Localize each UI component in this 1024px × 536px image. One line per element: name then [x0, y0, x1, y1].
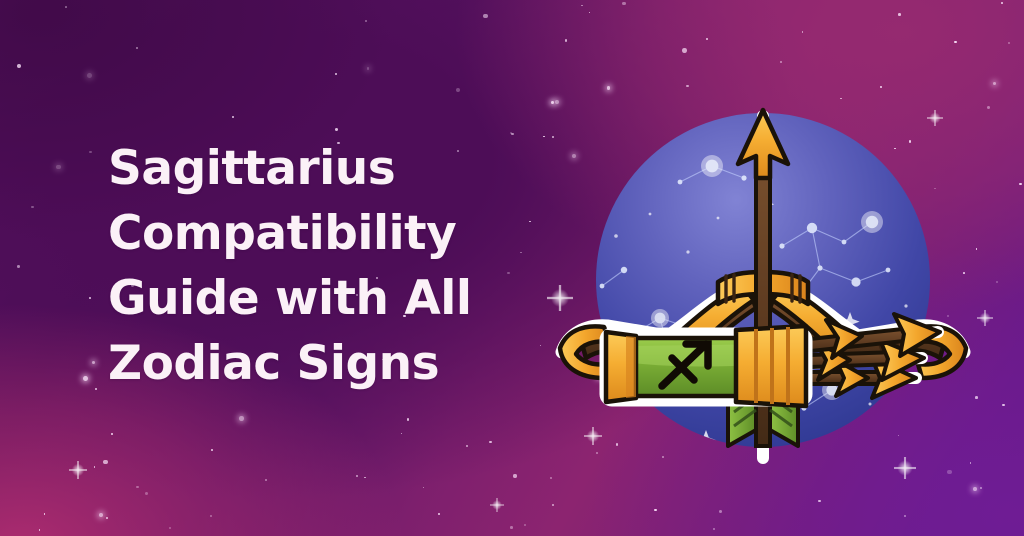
- background-star: [407, 418, 409, 420]
- sparkle-star: [490, 498, 504, 512]
- background-star: [1001, 2, 1003, 4]
- background-star: [95, 388, 97, 390]
- background-star: [169, 527, 171, 529]
- background-star: [993, 82, 996, 85]
- background-star: [145, 492, 148, 495]
- background-star: [706, 38, 708, 40]
- background-star: [552, 504, 554, 506]
- background-star: [364, 477, 365, 478]
- background-star: [31, 206, 34, 209]
- background-star: [92, 361, 95, 364]
- title-line-2: Compatibility: [108, 201, 538, 266]
- background-star: [56, 165, 60, 169]
- title-line-1: Sagittarius: [108, 136, 538, 201]
- background-star: [898, 13, 901, 16]
- background-star: [524, 524, 526, 526]
- zodiac-banner: Sagittarius Compatibility Guide with All…: [0, 0, 1024, 536]
- background-star: [83, 376, 88, 381]
- background-star: [622, 2, 625, 5]
- background-star: [456, 88, 460, 92]
- background-star: [581, 5, 583, 7]
- background-star: [44, 513, 46, 515]
- background-star: [65, 6, 67, 8]
- background-star: [239, 416, 244, 421]
- sparkle-star: [69, 461, 87, 479]
- background-star: [106, 517, 108, 519]
- background-star: [111, 433, 113, 435]
- background-star: [89, 297, 91, 299]
- background-star: [1019, 183, 1021, 185]
- background-star: [589, 12, 591, 14]
- page-title: Sagittarius Compatibility Guide with All…: [108, 136, 538, 396]
- quiver: [606, 326, 806, 406]
- background-star: [1002, 404, 1005, 407]
- background-star: [713, 528, 715, 530]
- background-star: [466, 445, 468, 447]
- background-star: [987, 106, 990, 109]
- background-star: [87, 73, 92, 78]
- background-star: [265, 479, 268, 482]
- background-star: [211, 449, 213, 451]
- background-star: [17, 265, 20, 268]
- background-star: [818, 500, 820, 502]
- background-star: [89, 151, 91, 153]
- background-star: [335, 73, 337, 75]
- background-star: [136, 486, 139, 489]
- background-star: [780, 61, 782, 63]
- background-star: [719, 510, 723, 514]
- background-star: [232, 116, 234, 118]
- title-line-3: Guide with All: [108, 266, 538, 331]
- background-star: [973, 487, 977, 491]
- background-star: [565, 39, 567, 41]
- background-star: [438, 513, 440, 515]
- background-star: [423, 487, 425, 489]
- background-star: [39, 529, 41, 531]
- background-star: [367, 67, 370, 70]
- background-star: [210, 515, 212, 517]
- background-star: [996, 281, 998, 283]
- background-star: [904, 515, 906, 517]
- background-star: [489, 441, 491, 443]
- title-line-4: Zodiac Signs: [108, 331, 538, 396]
- background-star: [401, 433, 403, 435]
- background-star: [682, 48, 687, 53]
- background-star: [980, 487, 982, 489]
- background-star: [1008, 42, 1010, 44]
- background-star: [802, 31, 804, 33]
- background-star: [511, 133, 514, 136]
- background-star: [654, 509, 656, 511]
- background-star: [510, 526, 513, 529]
- background-star: [356, 475, 358, 477]
- background-star: [99, 513, 103, 517]
- background-star: [94, 466, 96, 468]
- background-star: [954, 41, 956, 43]
- background-star: [136, 47, 138, 49]
- background-star: [483, 14, 488, 19]
- sagittarius-illustration: [520, 86, 980, 486]
- background-star: [335, 128, 338, 131]
- background-star: [103, 460, 108, 465]
- background-star: [365, 20, 367, 22]
- background-star: [513, 474, 516, 477]
- background-star: [17, 64, 21, 68]
